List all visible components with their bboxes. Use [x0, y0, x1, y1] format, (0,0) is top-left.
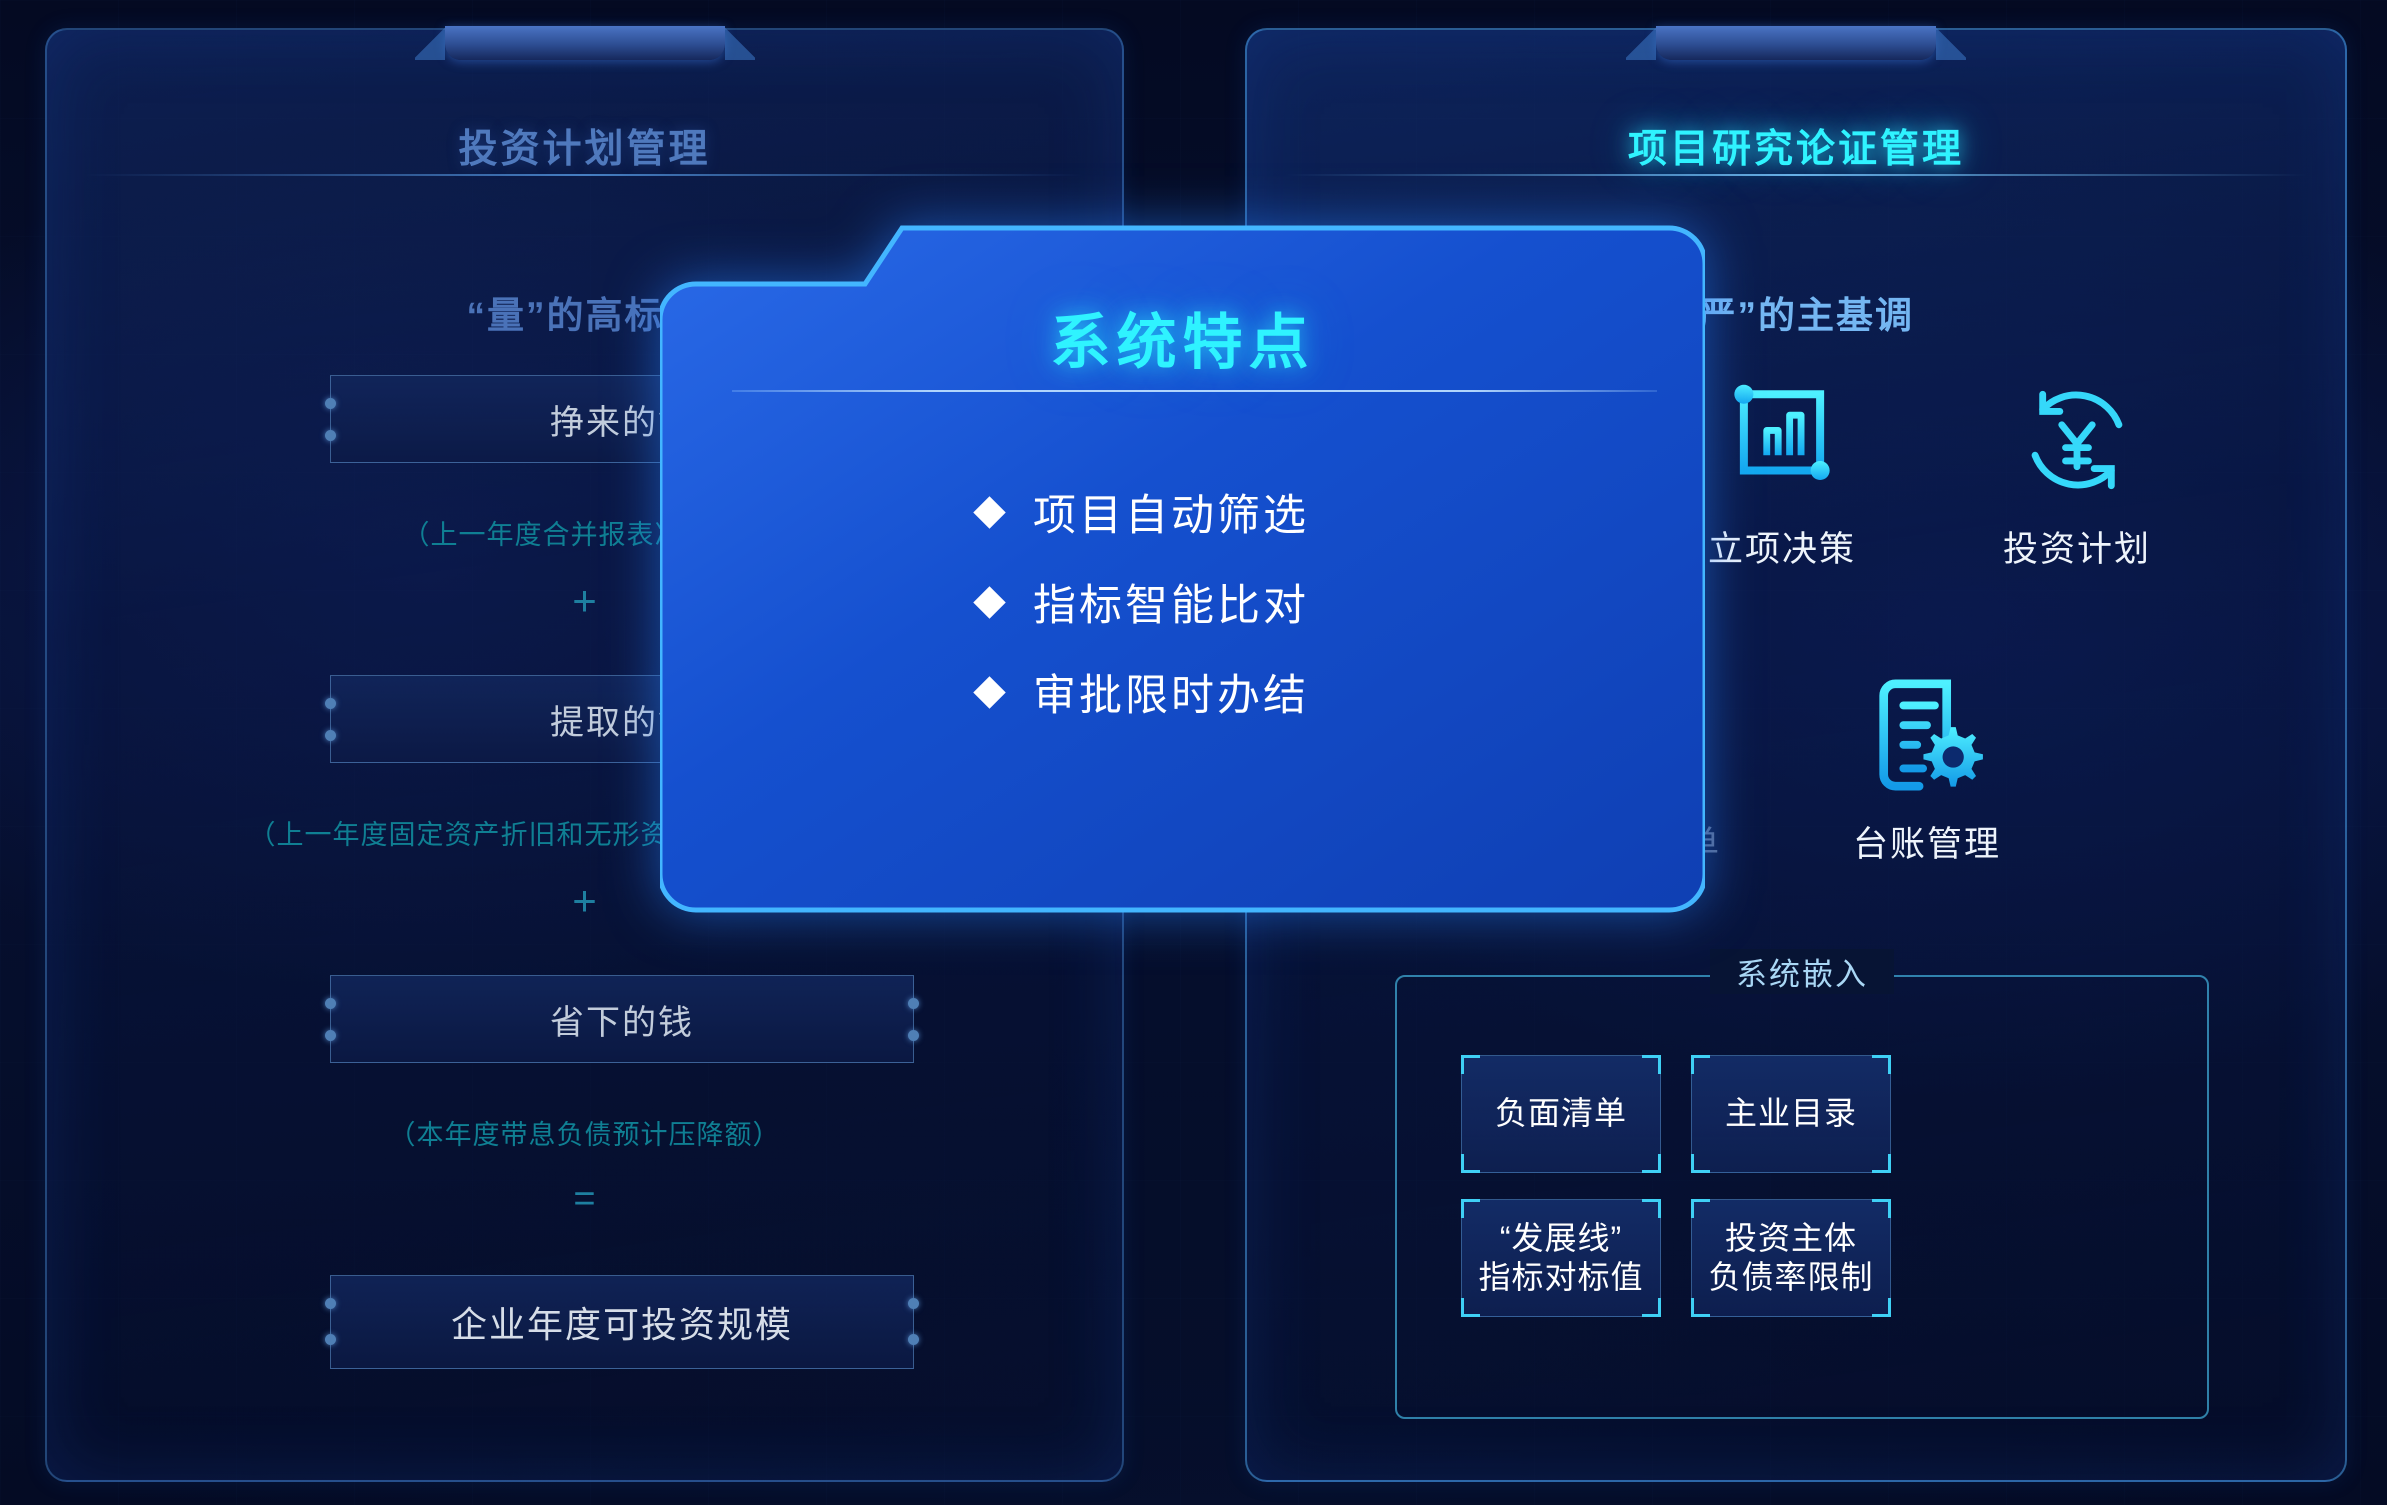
flow-operator-3: =	[47, 1180, 1122, 1218]
feature-investment-plan[interactable]: 投资计划	[1962, 365, 2192, 572]
embed-box-investor-debt-limit[interactable]: 投资主体 负债率限制	[1691, 1199, 1891, 1317]
title-divider-right	[1285, 174, 2307, 176]
feature-label: 投资计划	[1962, 521, 2192, 572]
feature-label: 台账管理	[1812, 816, 2042, 867]
modal-feature-list: 项目自动筛选 指标智能比对 审批限时办结	[978, 467, 1309, 737]
title-divider-left	[85, 174, 1084, 176]
flow-result-label: 企业年度可投资规模	[451, 1296, 793, 1348]
embed-box-line1: 投资主体	[1708, 1219, 1873, 1258]
diamond-bullet-icon	[973, 676, 1006, 709]
flow-box-saved[interactable]: 省下的钱	[330, 975, 914, 1063]
embed-box-line2: 指标对标值	[1478, 1258, 1643, 1297]
modal-title: 系统特点	[660, 294, 1705, 381]
panel-top-notch	[1656, 26, 1936, 60]
system-embed-grid: 负面清单 主业目录 “发展线” 指标对标值 投资主体 负债率限制	[1461, 1055, 1891, 1317]
modal-list-item-label: 项目自动筛选	[1033, 481, 1309, 543]
modal-list-item-label: 指标智能比对	[1033, 571, 1309, 633]
diamond-bullet-icon	[973, 496, 1006, 529]
yen-refresh-icon	[1962, 365, 2192, 515]
system-embed-group: 系统嵌入 负面清单 主业目录 “发展线” 指标对标值 投资主体	[1395, 975, 2209, 1419]
embed-box-negative-list[interactable]: 负面清单	[1461, 1055, 1661, 1173]
embed-box-line1: “发展线”	[1478, 1219, 1643, 1258]
flow-box-label: 省下的钱	[550, 995, 694, 1044]
embed-box-line1: 主业目录	[1725, 1094, 1857, 1133]
diamond-bullet-icon	[973, 586, 1006, 619]
system-features-modal: 系统特点 项目自动筛选 指标智能比对 审批限时办结	[660, 222, 1705, 932]
modal-title-divider	[732, 390, 1657, 392]
modal-list-item[interactable]: 审批限时办结	[978, 647, 1309, 737]
document-gear-icon	[1812, 660, 2042, 810]
panel-top-notch	[445, 26, 725, 60]
panel-title-left: 投资计划管理	[47, 118, 1122, 174]
slide-stage: 投资计划管理 “量”的高标准 挣来的钱 （上一年度合并报表净利润） + 提取的钱…	[0, 0, 2387, 1505]
embed-box-line2: 负债率限制	[1708, 1258, 1873, 1297]
embed-box-development-line[interactable]: “发展线” 指标对标值	[1461, 1199, 1661, 1317]
flow-box-result[interactable]: 企业年度可投资规模	[330, 1275, 914, 1369]
panel-title-right: 项目研究论证管理	[1247, 118, 2345, 174]
modal-list-item-label: 审批限时办结	[1033, 661, 1309, 723]
feature-ledger-management[interactable]: 台账管理	[1812, 660, 2042, 867]
modal-list-item[interactable]: 指标智能比对	[978, 557, 1309, 647]
embed-box-main-business-catalog[interactable]: 主业目录	[1691, 1055, 1891, 1173]
flow-note-saved: （本年度带息负债预计压降额）	[47, 1113, 1122, 1152]
system-embed-legend: 系统嵌入	[1710, 949, 1894, 994]
embed-box-line1: 负面清单	[1495, 1094, 1627, 1133]
modal-list-item[interactable]: 项目自动筛选	[978, 467, 1309, 557]
